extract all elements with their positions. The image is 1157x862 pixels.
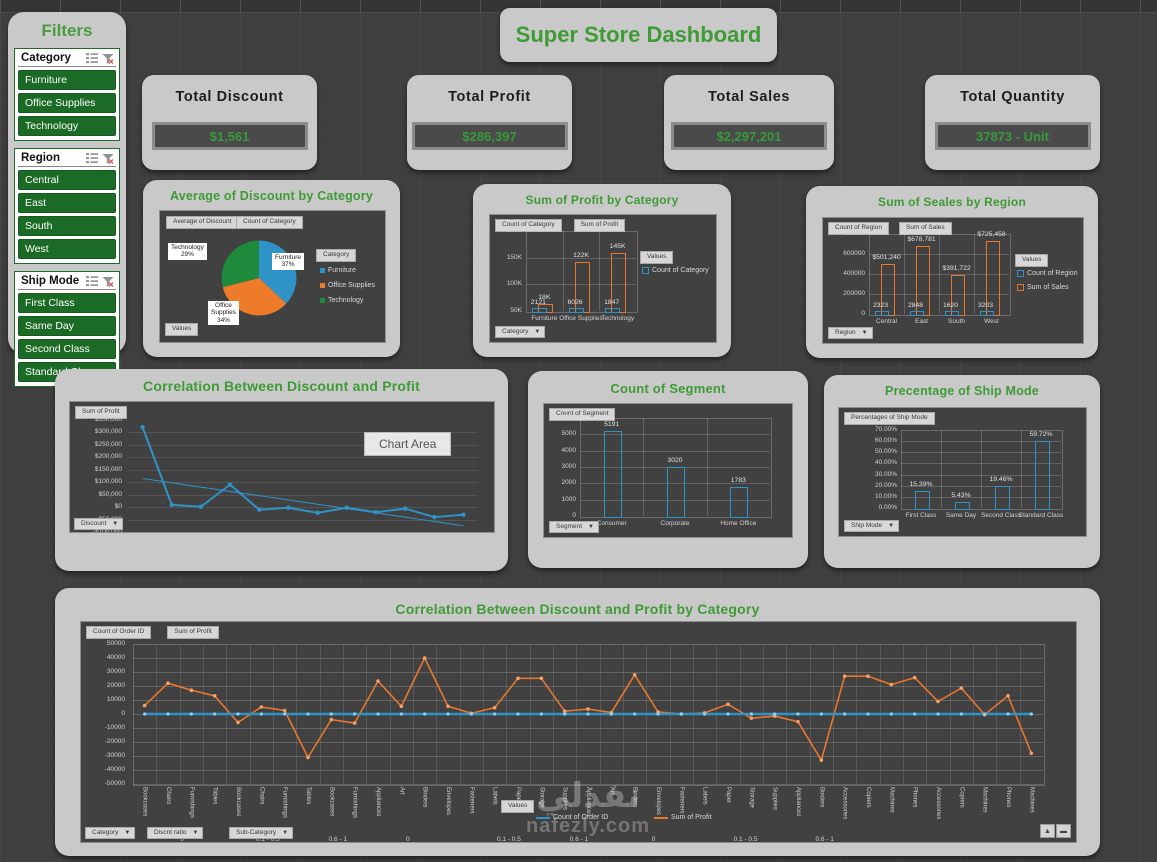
chevron-down-icon: ▼ bbox=[112, 521, 118, 527]
legend-swatch bbox=[1017, 270, 1024, 277]
pivot-filter-button[interactable]: Category▼ bbox=[495, 326, 545, 339]
chart-panel-sum-profit-by-category: Sum of Profit by Category Count of Categ… bbox=[473, 184, 731, 357]
legend-item: Count of Category bbox=[642, 267, 712, 274]
slicer-item-west[interactable]: West bbox=[18, 239, 116, 259]
values-field-button[interactable]: Values bbox=[1015, 254, 1048, 267]
bar-chart-area: Percentages of Ship Mode70.00%60.00%50.0… bbox=[838, 407, 1087, 537]
pivot-field-button[interactable]: Average of Discount bbox=[166, 216, 238, 229]
pie-chart-area: Average of DiscountCount of CategoryTech… bbox=[159, 210, 386, 343]
bar-count-label: 2121 bbox=[520, 299, 556, 306]
clear-filter-icon[interactable] bbox=[102, 53, 114, 64]
slicer-item-same-day[interactable]: Same Day bbox=[18, 316, 116, 336]
pivot-filter-button[interactable]: Category▼ bbox=[85, 827, 135, 840]
x-axis-label: Supplies bbox=[562, 787, 568, 810]
kpi-value: 37873 - Unit bbox=[976, 129, 1049, 144]
field-name: Sub-Category bbox=[236, 830, 276, 837]
slicer-header-icons bbox=[86, 53, 114, 64]
chart-title: Correlation Between Discount and Profit … bbox=[55, 601, 1100, 617]
data-table-header-cell: 0.15 bbox=[186, 532, 215, 533]
y-axis-tick: -10000 bbox=[83, 724, 125, 731]
scroll-up-button[interactable]: ▲ bbox=[1040, 824, 1055, 838]
x-axis-label: Phones bbox=[912, 787, 918, 807]
pie-data-label: Technology 29% bbox=[168, 243, 207, 260]
y-axis-tick: $50,000 bbox=[72, 491, 122, 498]
pivot-filter-button[interactable]: Ship Mode▼ bbox=[844, 520, 899, 533]
y-axis-tick: 0.00% bbox=[845, 504, 897, 511]
pie-data-label: Furniture 37% bbox=[272, 253, 304, 270]
x-axis-label: Furnishings bbox=[282, 787, 288, 818]
data-table-header-cell: 0.5 bbox=[361, 532, 390, 533]
field-name: Ship Mode bbox=[851, 523, 882, 530]
bar-count-label: 2848 bbox=[898, 302, 934, 309]
x-axis-label: Art bbox=[608, 787, 614, 795]
y-axis-tick: 800000 bbox=[825, 230, 865, 237]
bar-sum bbox=[951, 275, 965, 316]
x-axis-label: Technology bbox=[588, 315, 648, 323]
data-table-header-row: 00.10.150.20.30.320.40.450.50.60.70.8 bbox=[128, 532, 478, 533]
dashboard-title: Super Store Dashboard bbox=[516, 22, 762, 48]
chart-title: Count of Segment bbox=[528, 381, 808, 396]
line-chart-area: Count of Order IDSum of Profit5000040000… bbox=[80, 621, 1077, 843]
kpi-value-box: $286,397 bbox=[412, 122, 568, 150]
data-table-header-cell: 0.32 bbox=[274, 532, 303, 533]
x-axis-label: Binders bbox=[422, 787, 428, 807]
y-axis-tick: -20000 bbox=[83, 738, 125, 745]
data-table-header-cell: 0.2 bbox=[215, 532, 244, 533]
slicer-item-second-class[interactable]: Second Class bbox=[18, 339, 116, 359]
y-axis-tick: 60.00% bbox=[845, 437, 897, 444]
ratio-group-label: 0.6 - 1 bbox=[570, 836, 588, 843]
slicer-header: Region bbox=[18, 152, 116, 167]
data-table-header-cell: 0.6 bbox=[390, 532, 419, 533]
y-axis-tick: 1000 bbox=[546, 496, 576, 503]
slicer-header-icons bbox=[86, 276, 114, 287]
kpi-value: $1,561 bbox=[210, 129, 250, 144]
data-table-header-cell: 0.3 bbox=[245, 532, 274, 533]
legend-item: Sum of Profit bbox=[654, 814, 711, 821]
x-axis-label: Bookcases bbox=[142, 787, 148, 816]
bar bbox=[730, 487, 748, 518]
bar-value-label: 59.72% bbox=[1019, 431, 1063, 438]
pivot-filter-button[interactable]: Discnt ratio▼ bbox=[147, 827, 203, 840]
kpi-value: $2,297,201 bbox=[716, 129, 781, 144]
multi-select-icon[interactable] bbox=[86, 53, 98, 64]
y-axis-tick: $350,000 bbox=[72, 416, 122, 423]
bar-value-label: $678,781 bbox=[900, 236, 944, 243]
slicer-item-east[interactable]: East bbox=[18, 193, 116, 213]
y-axis-tick: 200K bbox=[492, 227, 522, 234]
y-axis-tick: 50000 bbox=[83, 640, 125, 647]
x-axis-label: West bbox=[962, 318, 1022, 326]
field-name: Region bbox=[835, 330, 856, 337]
clear-filter-icon[interactable] bbox=[102, 153, 114, 164]
pivot-field-button[interactable]: Percentages of Ship Mode bbox=[844, 412, 935, 425]
x-axis-label: Envelopes bbox=[445, 787, 451, 815]
y-axis-tick: 30000 bbox=[83, 668, 125, 675]
kpi-value-box: $2,297,201 bbox=[671, 122, 827, 150]
y-axis-tick: 4000 bbox=[546, 447, 576, 454]
chevron-down-icon: ▼ bbox=[588, 524, 594, 530]
x-axis-label: Labels bbox=[492, 787, 498, 805]
bar bbox=[1035, 441, 1050, 510]
kpi-caption: Total Discount bbox=[142, 89, 317, 105]
bar-value-label: 19.46% bbox=[979, 476, 1023, 483]
legend-label: Office Supplies bbox=[328, 282, 375, 289]
legend-swatch bbox=[320, 268, 325, 273]
x-axis-label: Fasteners bbox=[468, 787, 474, 814]
data-table-header-cell: 0.4 bbox=[303, 532, 332, 533]
chevron-down-icon: ▼ bbox=[282, 830, 288, 836]
line-chart-area: Sum of Profit$350,000$300,000$250,000$20… bbox=[69, 401, 495, 533]
kpi-value-box: $1,561 bbox=[152, 122, 308, 150]
x-axis-label: Binders bbox=[818, 787, 824, 807]
legend-item: Count of Region bbox=[1017, 270, 1084, 277]
y-axis-tick: 600000 bbox=[825, 250, 865, 257]
y-axis-tick: 5000 bbox=[546, 430, 576, 437]
legend-swatch bbox=[642, 267, 649, 274]
slicer-item-technology[interactable]: Technology bbox=[18, 116, 116, 136]
x-axis-label: Machines bbox=[888, 787, 894, 813]
pivot-filter-button[interactable]: Region▼ bbox=[828, 327, 873, 340]
gridline bbox=[133, 784, 1043, 785]
chart-panel-count-of-segment: Count of Segment Count of Segment6000500… bbox=[528, 371, 808, 568]
bar bbox=[995, 486, 1010, 510]
ratio-group-label: 0.1 - 0.5 bbox=[734, 836, 758, 843]
legend-label: Sum of Profit bbox=[671, 814, 711, 821]
bar-count bbox=[605, 308, 620, 313]
bar-count bbox=[875, 311, 889, 316]
pivot-filter-button[interactable]: Sub-Category▼ bbox=[229, 827, 293, 840]
y-axis-tick: 30.00% bbox=[845, 471, 897, 478]
bar-count-label: 6026 bbox=[557, 299, 593, 306]
bar-chart-area: Count of RegionSum of Sales8000006000004… bbox=[822, 217, 1084, 344]
x-axis-label: Labels bbox=[702, 787, 708, 805]
slicer-region: RegionCentralEastSouthWest bbox=[14, 148, 120, 264]
y-axis-tick: 400000 bbox=[825, 270, 865, 277]
data-table-header-cell: 0 bbox=[128, 532, 157, 533]
chart-panel-percentage-of-ship-mode: Precentage of Ship Mode Percentages of S… bbox=[824, 375, 1100, 568]
chart-title: Precentage of Ship Mode bbox=[824, 384, 1100, 398]
bar-value-label: 5.43% bbox=[939, 492, 983, 499]
bar-count-label: 1620 bbox=[933, 302, 969, 309]
y-axis-tick: 40000 bbox=[83, 654, 125, 661]
bar-count-label: 2323 bbox=[863, 302, 899, 309]
legend-item: Count of Order ID bbox=[536, 814, 608, 821]
chart-panel-correlation-discount-profit: Correlation Between Discount and Profit … bbox=[55, 369, 508, 571]
bar-count bbox=[945, 311, 959, 316]
kpi-card-total-quantity: Total Quantity 37873 - Unit bbox=[925, 75, 1100, 170]
x-axis-label: Art bbox=[398, 787, 404, 795]
clear-filter-icon[interactable] bbox=[102, 276, 114, 287]
y-axis-tick: 200000 bbox=[825, 290, 865, 297]
bar-value-label: $725,458 bbox=[970, 231, 1014, 238]
x-axis-label: Storage bbox=[538, 787, 544, 808]
x-axis-label: Bookcases bbox=[235, 787, 241, 816]
data-table: 00.10.150.20.30.320.40.450.50.60.70.8$32… bbox=[128, 532, 478, 533]
chart-panel-avg-discount-by-category: Average of Discount by Category Average … bbox=[143, 180, 400, 357]
chart-title: Sum of Profit by Category bbox=[473, 193, 731, 207]
pivot-field-button[interactable]: Sum of Profit bbox=[167, 626, 219, 639]
bar-value-label: 15.39% bbox=[899, 481, 943, 488]
slicer-header: Ship Mode bbox=[18, 275, 116, 290]
legend-swatch bbox=[320, 283, 325, 288]
bar-value-label: 122K bbox=[559, 252, 603, 259]
data-table-header-cell: 0.45 bbox=[332, 532, 361, 533]
ratio-group-label: 0 bbox=[652, 836, 656, 843]
chart-area-tooltip: Chart Area bbox=[364, 432, 451, 456]
y-axis-tick: 10000 bbox=[83, 696, 125, 703]
y-axis-tick: 0 bbox=[83, 710, 125, 717]
pivot-field-button[interactable]: Sum of Sales bbox=[899, 222, 952, 235]
x-axis-label: Copiers bbox=[865, 787, 871, 808]
ratio-group-label: 0 bbox=[406, 836, 410, 843]
legend-label: Sum of Sales bbox=[1027, 284, 1069, 291]
y-axis-tick: -50000 bbox=[83, 780, 125, 787]
y-axis-tick: -40000 bbox=[83, 766, 125, 773]
x-axis-label: Machines bbox=[982, 787, 988, 813]
bar-value-label: $391,722 bbox=[935, 265, 979, 272]
x-axis-label: Chairs bbox=[165, 787, 171, 804]
slicer-item-first-class[interactable]: First Class bbox=[18, 293, 116, 313]
x-axis-label: Tables bbox=[305, 787, 311, 804]
bar-value-label: 145K bbox=[596, 243, 640, 250]
legend-item: Furniture bbox=[320, 267, 356, 274]
legend-label: Furniture bbox=[328, 267, 356, 274]
x-axis-label: Fasteners bbox=[678, 787, 684, 814]
y-axis-tick: 10.00% bbox=[845, 493, 897, 500]
x-axis-label: Home Office bbox=[708, 520, 768, 528]
legend-item: Sum of Sales bbox=[1017, 284, 1084, 291]
legend-swatch bbox=[536, 817, 550, 819]
y-axis-tick: 50.00% bbox=[845, 448, 897, 455]
bar-count bbox=[910, 311, 924, 316]
x-axis-label: Appliances bbox=[795, 787, 801, 816]
chevron-down-icon: ▼ bbox=[888, 523, 894, 529]
y-axis-tick: 150K bbox=[492, 254, 522, 261]
slicer-title-1: Region bbox=[21, 152, 60, 164]
slicer-title-2: Ship Mode bbox=[21, 275, 79, 287]
bar bbox=[915, 491, 930, 510]
kpi-caption: Total Profit bbox=[407, 89, 572, 105]
bar-count bbox=[569, 308, 584, 313]
ratio-group-label: 0.6 - 1 bbox=[816, 836, 834, 843]
y-axis-tick: $200,000 bbox=[72, 453, 122, 460]
bar-value-label: 3020 bbox=[653, 457, 697, 464]
x-axis-label: Copiers bbox=[958, 787, 964, 808]
x-axis-label: Supplies bbox=[772, 787, 778, 810]
y-axis-tick: 70.00% bbox=[845, 426, 897, 433]
bar-count-label: 1847 bbox=[594, 299, 630, 306]
legend-swatch bbox=[654, 817, 668, 819]
legend-label: Count of Category bbox=[652, 267, 709, 274]
kpi-caption: Total Sales bbox=[664, 89, 834, 105]
pivot-field-button[interactable]: Count of Order ID bbox=[86, 626, 151, 639]
bar-count-label: 3203 bbox=[968, 302, 1004, 309]
kpi-card-total-profit: Total Profit $286,397 bbox=[407, 75, 572, 170]
pivot-filter-button[interactable]: Segment▼ bbox=[549, 521, 599, 534]
pivot-filter-button[interactable]: Discount▼ bbox=[74, 518, 123, 531]
values-field-button[interactable]: Category bbox=[316, 249, 356, 262]
data-table-header-cell: 0.1 bbox=[157, 532, 186, 533]
chart-title: Average of Discount by Category bbox=[143, 189, 400, 203]
chevron-down-icon: ▼ bbox=[124, 830, 130, 836]
x-axis-label: Appliances bbox=[375, 787, 381, 816]
y-axis-tick: 0 bbox=[825, 310, 865, 317]
bar-chart-area: Count of CategorySum of Profit200K150K10… bbox=[489, 214, 717, 343]
field-name: Category bbox=[502, 329, 528, 336]
chevron-down-icon: ▼ bbox=[193, 830, 199, 836]
legend-label: Technology bbox=[328, 297, 363, 304]
x-axis-label: Standard Class bbox=[1011, 512, 1071, 520]
x-axis-label: Accessories bbox=[935, 787, 941, 819]
bar bbox=[667, 467, 685, 518]
y-axis-tick: 100K bbox=[492, 280, 522, 287]
values-button[interactable]: Values bbox=[165, 323, 198, 336]
pivot-field-button[interactable]: Count of Category bbox=[236, 216, 303, 229]
values-field-button[interactable]: Values bbox=[640, 251, 673, 264]
line-series bbox=[133, 644, 1043, 784]
bar bbox=[955, 502, 970, 510]
filters-title: Filters bbox=[8, 21, 126, 41]
dashboard-title-card: Super Store Dashboard bbox=[500, 8, 777, 62]
bar-value-label: $501,240 bbox=[865, 254, 909, 261]
slicer-item-central[interactable]: Central bbox=[18, 170, 116, 190]
x-axis-label: Machines bbox=[1028, 787, 1034, 813]
slicer-category: CategoryFurnitureOffice SuppliesTechnolo… bbox=[14, 48, 120, 141]
multi-select-icon[interactable] bbox=[86, 153, 98, 164]
pie-data-label: Office Supplies 34% bbox=[208, 301, 239, 325]
y-axis-tick: 40.00% bbox=[845, 459, 897, 466]
y-axis-tick: 3000 bbox=[546, 463, 576, 470]
slicer-header-icons bbox=[86, 153, 114, 164]
slicer-item-furniture[interactable]: Furniture bbox=[18, 70, 116, 90]
bar-value-label: 5191 bbox=[590, 421, 634, 428]
x-axis-label: Paper bbox=[725, 787, 731, 803]
field-name: Category bbox=[92, 830, 118, 837]
ratio-group-label: 0.6 - 1 bbox=[329, 836, 347, 843]
legend-swatch bbox=[320, 298, 325, 303]
bar bbox=[604, 431, 622, 518]
field-name: Discount bbox=[81, 521, 106, 528]
kpi-value-box: 37873 - Unit bbox=[935, 122, 1091, 150]
kpi-caption: Total Quantity bbox=[925, 89, 1100, 105]
x-axis-label: Furnishings bbox=[188, 787, 194, 818]
x-axis-label: Binders bbox=[632, 787, 638, 807]
data-table-header-cell: 0.8 bbox=[449, 532, 478, 533]
x-axis-label: Accessories bbox=[842, 787, 848, 819]
chart-panel-sum-sales-by-region: Sum of Seales by Region Count of RegionS… bbox=[806, 186, 1098, 358]
bar-chart-area: Count of Segment600050004000300020001000… bbox=[543, 403, 793, 538]
legend-swatch bbox=[1017, 284, 1024, 291]
slicer-item-south[interactable]: South bbox=[18, 216, 116, 236]
slicer-header: Category bbox=[18, 52, 116, 67]
chart-title: Correlation Between Discount and Profit bbox=[55, 378, 508, 394]
y-axis-tick: 0 bbox=[546, 512, 576, 519]
multi-select-icon[interactable] bbox=[86, 276, 98, 287]
chevron-down-icon: ▼ bbox=[862, 330, 868, 336]
y-axis-tick: $100,000 bbox=[72, 478, 122, 485]
pivot-field-button[interactable]: Sum of Profit bbox=[574, 219, 626, 232]
slicer-item-office-supplies[interactable]: Office Supplies bbox=[18, 93, 116, 113]
y-axis-tick: 6000 bbox=[546, 414, 576, 421]
values-button[interactable]: Values bbox=[501, 800, 534, 813]
y-axis-tick: $0 bbox=[72, 503, 122, 510]
bar-count bbox=[532, 308, 547, 313]
chart-title: Sum of Seales by Region bbox=[806, 195, 1098, 209]
chevron-down-icon: ▼ bbox=[534, 329, 540, 335]
data-table-header-cell: 0.7 bbox=[420, 532, 449, 533]
scroll-down-button[interactable]: ▬ bbox=[1056, 824, 1071, 838]
y-axis-tick: $250,000 bbox=[72, 441, 122, 448]
slicer-title-0: Category bbox=[21, 52, 71, 64]
y-axis-tick: 2000 bbox=[546, 479, 576, 486]
x-axis-label: Chairs bbox=[258, 787, 264, 804]
field-name: Discnt ratio bbox=[154, 830, 187, 837]
x-axis-label: Tables bbox=[212, 787, 218, 804]
y-axis-tick: 50K bbox=[492, 307, 522, 314]
legend-label: Count of Order ID bbox=[553, 814, 608, 821]
y-axis-tick: -30000 bbox=[83, 752, 125, 759]
chart-panel-correlation-by-category: Correlation Between Discount and Profit … bbox=[55, 588, 1100, 856]
bar-value-label: 1783 bbox=[716, 477, 760, 484]
y-axis-tick: $150,000 bbox=[72, 466, 122, 473]
kpi-card-total-sales: Total Sales $2,297,201 bbox=[664, 75, 834, 170]
kpi-value: $286,397 bbox=[462, 129, 516, 144]
legend-label: Count of Region bbox=[1027, 270, 1078, 277]
x-axis-label: Envelopes bbox=[655, 787, 661, 815]
filters-panel: Filters CategoryFurnitureOffice Supplies… bbox=[8, 12, 126, 354]
x-axis-label: Appliances bbox=[585, 787, 591, 816]
field-name: Segment bbox=[556, 524, 582, 531]
legend-item: Office Supplies bbox=[320, 282, 375, 289]
x-axis-label: Bookcases bbox=[328, 787, 334, 816]
bar-count bbox=[980, 311, 994, 316]
y-axis-tick: 20.00% bbox=[845, 482, 897, 489]
x-axis-label: Furnishings bbox=[352, 787, 358, 818]
x-axis-label: Corporate bbox=[645, 520, 705, 528]
x-axis-label: Phones bbox=[1005, 787, 1011, 807]
legend-item: Technology bbox=[320, 297, 363, 304]
x-axis-label: Storage bbox=[748, 787, 754, 808]
kpi-card-total-discount: Total Discount $1,561 bbox=[142, 75, 317, 170]
y-axis-tick: 20000 bbox=[83, 682, 125, 689]
y-axis-tick: $300,000 bbox=[72, 428, 122, 435]
ratio-group-label: 0.1 - 0.5 bbox=[497, 836, 521, 843]
